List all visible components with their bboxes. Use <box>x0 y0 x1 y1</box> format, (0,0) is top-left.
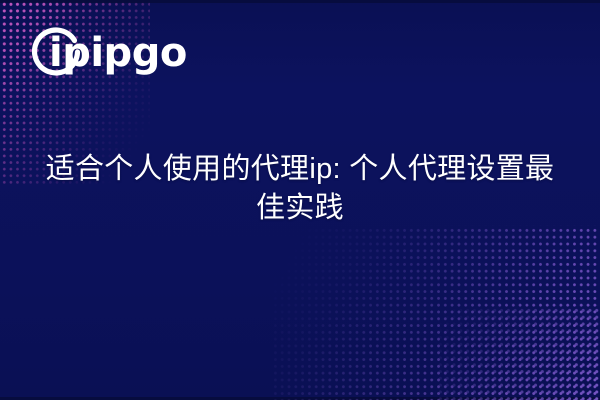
bottom-right-dot-pattern <box>270 225 600 400</box>
page-title: 适合个人使用的代理ip: 个人代理设置最佳实践 <box>40 150 560 229</box>
brand-logo-text: ipipgo <box>49 22 187 84</box>
promo-banner: ipipgo 适合个人使用的代理ip: 个人代理设置最佳实践 <box>0 0 600 400</box>
bottom-right-dot-pattern-core <box>435 305 600 400</box>
brand-logo[interactable]: ipipgo <box>30 22 230 84</box>
